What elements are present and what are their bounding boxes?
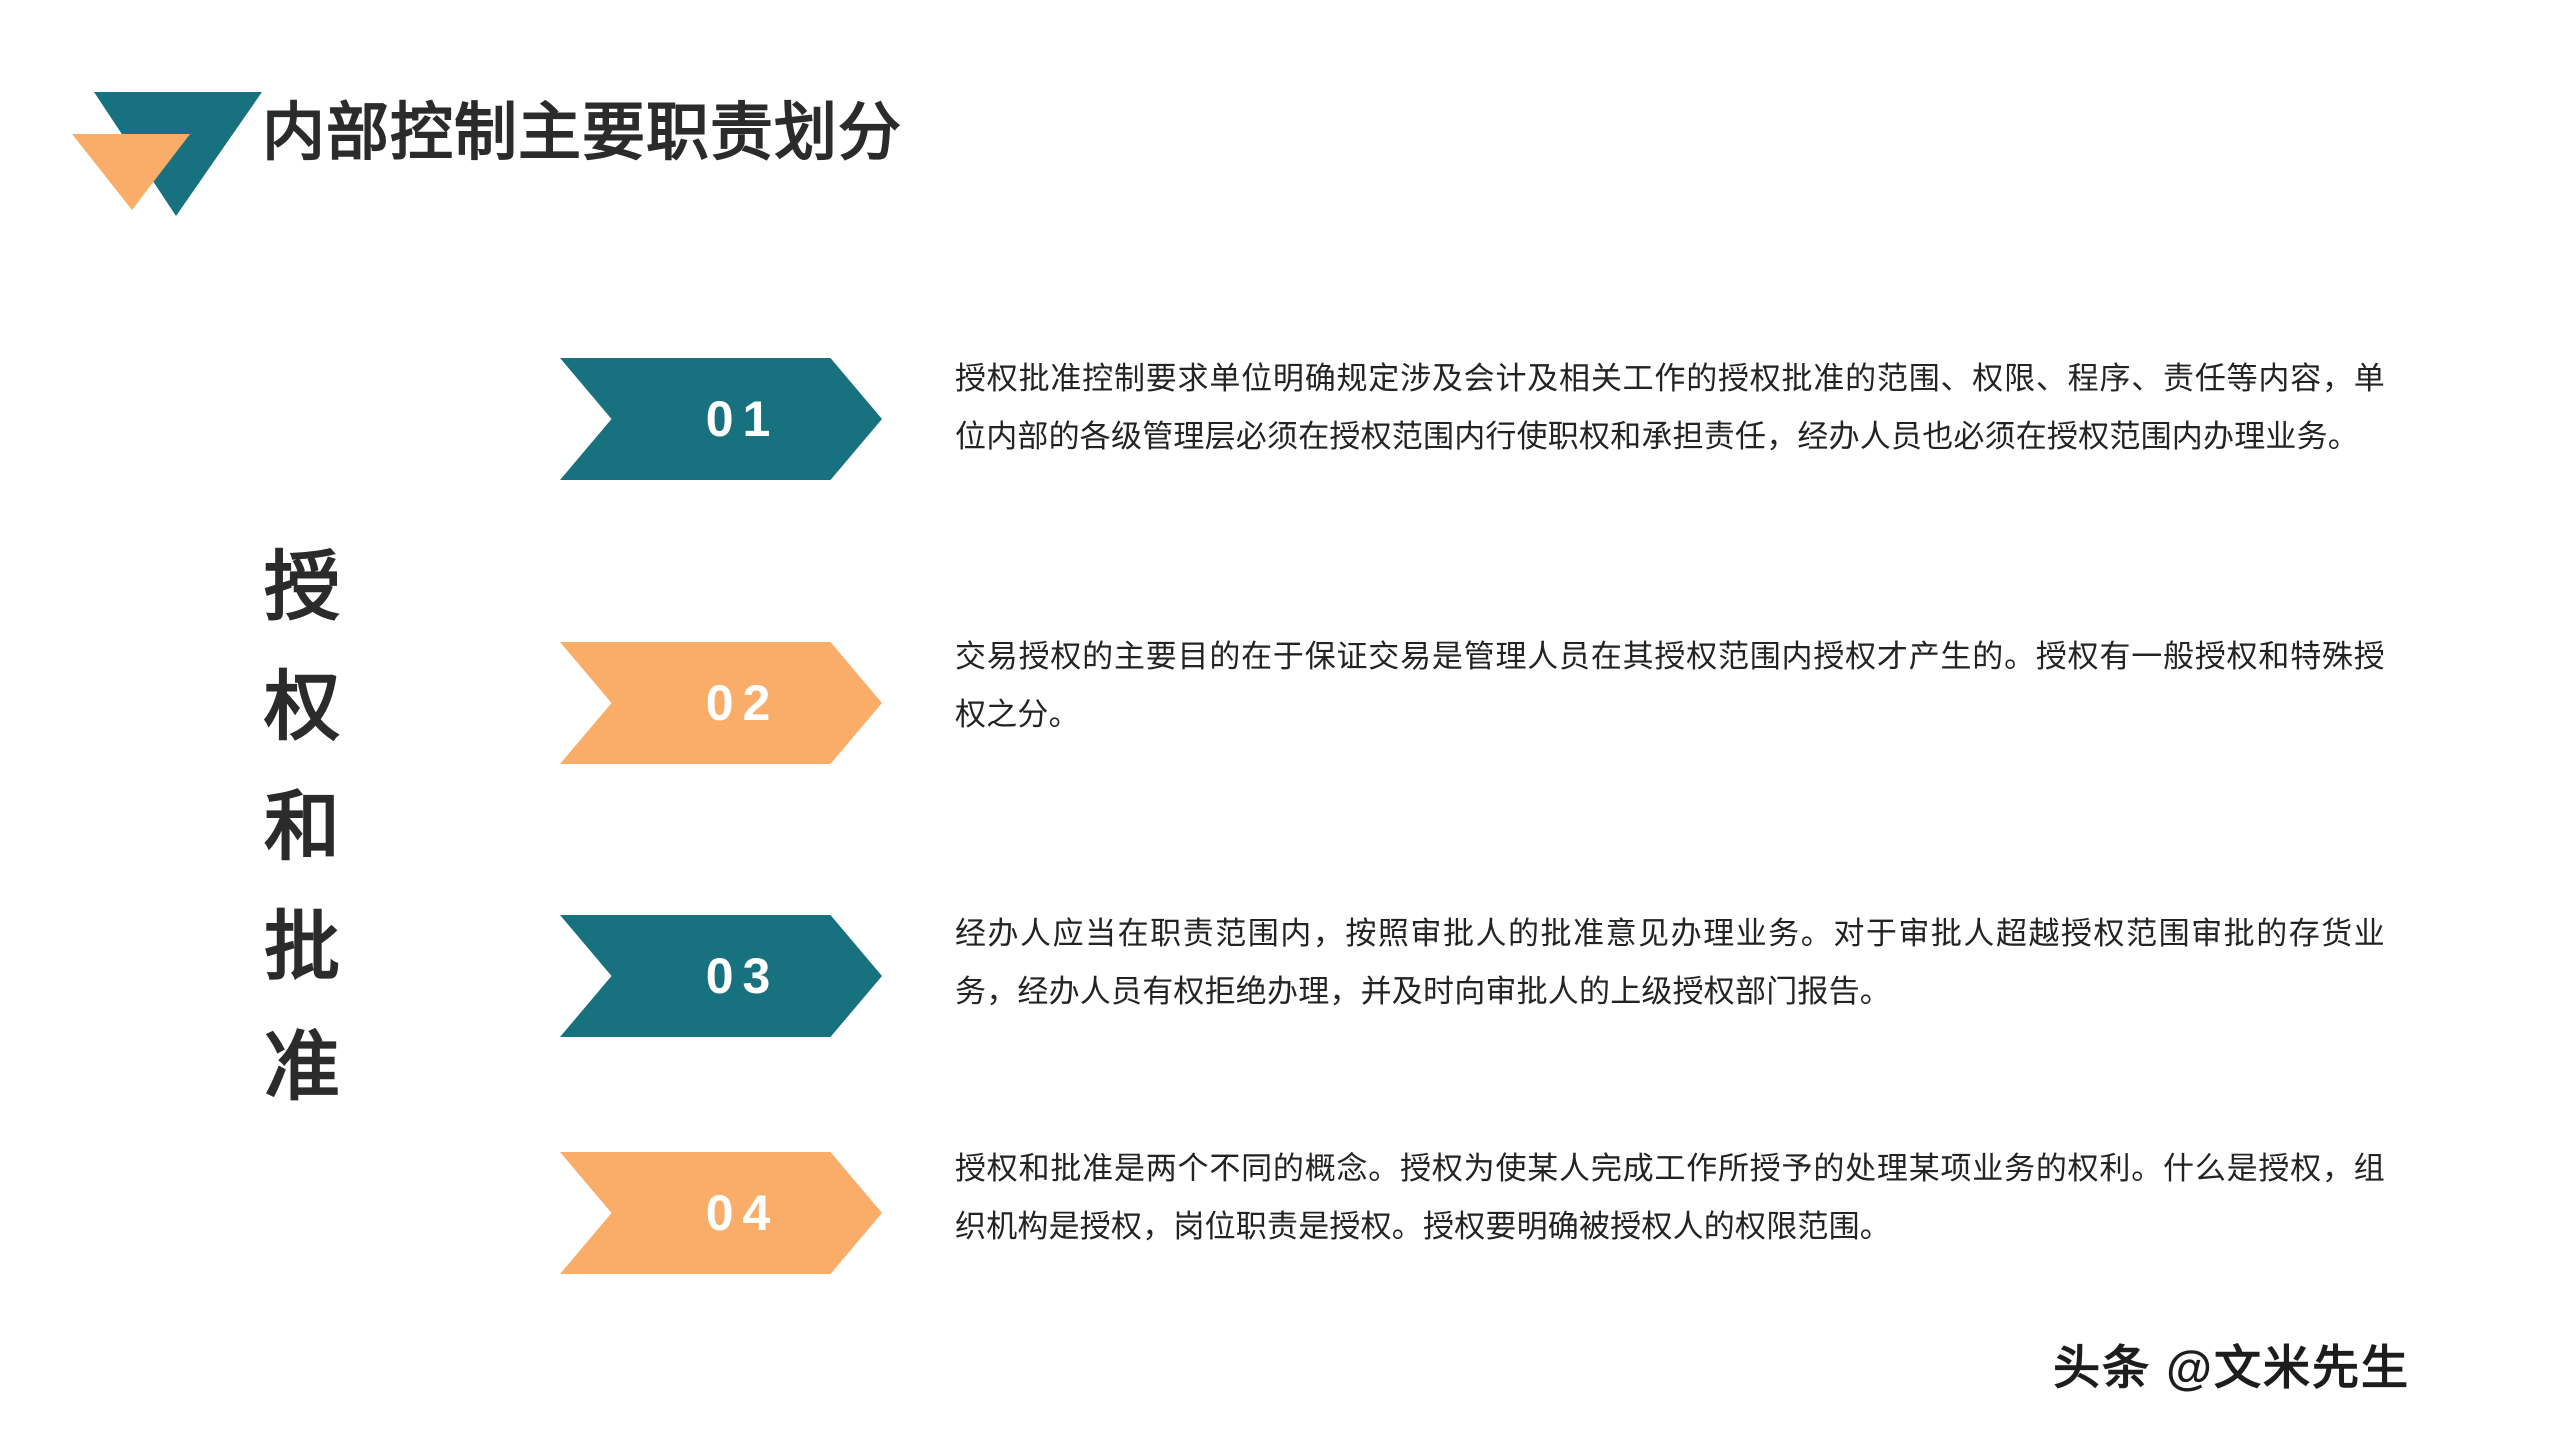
vertical-label-char: 和 <box>252 768 352 888</box>
step-description-02: 交易授权的主要目的在于保证交易是管理人员在其授权范围内授权才产生的。授权有一般授… <box>955 628 2385 744</box>
vertical-label-char: 授 <box>252 528 352 648</box>
vertical-label-char: 批 <box>252 888 352 1008</box>
step-chevron-04[interactable]: 04 <box>560 1152 882 1274</box>
watermark-attribution: 头条 @文米先生 <box>2053 1329 2410 1398</box>
step-number-label: 04 <box>697 1184 780 1242</box>
vertical-section-label: 授 权 和 批 准 <box>252 528 352 1128</box>
step-number-label: 03 <box>697 947 780 1005</box>
vertical-label-char: 准 <box>252 1008 352 1128</box>
step-chevron-01[interactable]: 01 <box>560 358 882 480</box>
step-description-03: 经办人应当在职责范围内，按照审批人的批准意见办理业务。对于审批人超越授权范围审批… <box>955 905 2385 1021</box>
page-title: 内部控制主要职责划分 <box>262 92 902 174</box>
step-number-label: 01 <box>697 390 780 448</box>
vertical-label-char: 权 <box>252 648 352 768</box>
slide-header: 内部控制主要职责划分 <box>0 0 2560 300</box>
double-triangle-logo-icon <box>72 88 262 216</box>
step-chevron-02[interactable]: 02 <box>560 642 882 764</box>
step-description-04: 授权和批准是两个不同的概念。授权为使某人完成工作所授予的处理某项业务的权利。什么… <box>955 1140 2385 1256</box>
step-number-label: 02 <box>697 674 780 732</box>
step-chevron-03[interactable]: 03 <box>560 915 882 1037</box>
step-description-01: 授权批准控制要求单位明确规定涉及会计及相关工作的授权批准的范围、权限、程序、责任… <box>955 350 2385 466</box>
